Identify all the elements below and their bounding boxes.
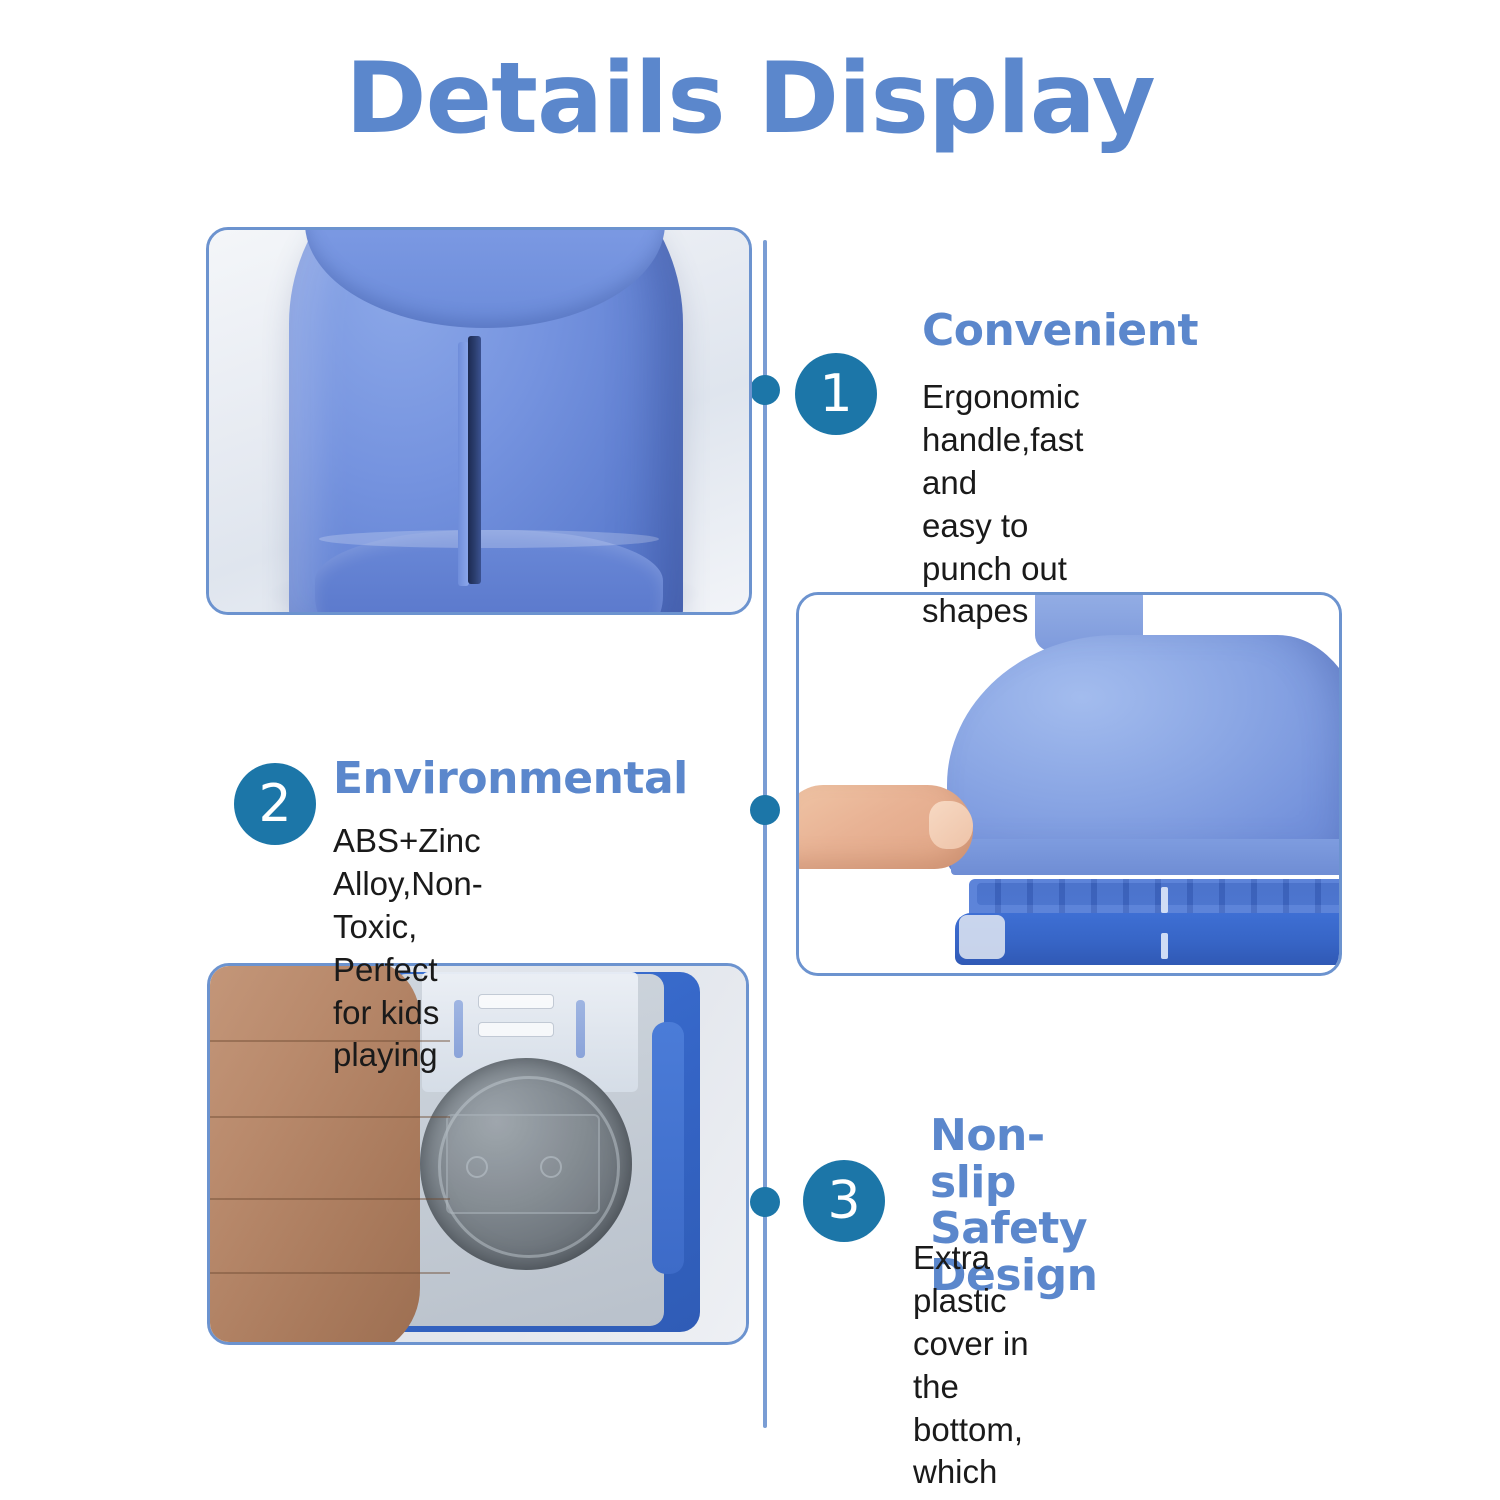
- timeline-dot-2: [750, 795, 780, 825]
- feature-body-1: Ergonomic handle,fast and easy to punch …: [922, 376, 1083, 633]
- feature-number-badge-1: 1: [795, 353, 877, 435]
- feature-number-badge-3: 3: [803, 1160, 885, 1242]
- feature-heading-2: Environmental: [333, 756, 688, 803]
- timeline-dot-3: [750, 1187, 780, 1217]
- page-title: Details Display: [0, 48, 1500, 151]
- feature-body-2: ABS+Zinc Alloy,Non-Toxic, Perfect for ki…: [333, 820, 483, 1077]
- feature-heading-1: Convenient: [922, 308, 1198, 355]
- feature-body-3: Extra plastic cover in the bottom, which…: [913, 1237, 1034, 1500]
- photo-handle-artwork: [209, 230, 749, 612]
- timeline-dot-1: [750, 375, 780, 405]
- details-display-infographic: Details Display: [0, 0, 1500, 1500]
- feature-number-badge-2: 2: [234, 763, 316, 845]
- photo-finger-press-artwork: [799, 595, 1339, 973]
- timeline-spine: [763, 240, 767, 1428]
- product-photo-finger-press: [796, 592, 1342, 976]
- product-photo-handle: [206, 227, 752, 615]
